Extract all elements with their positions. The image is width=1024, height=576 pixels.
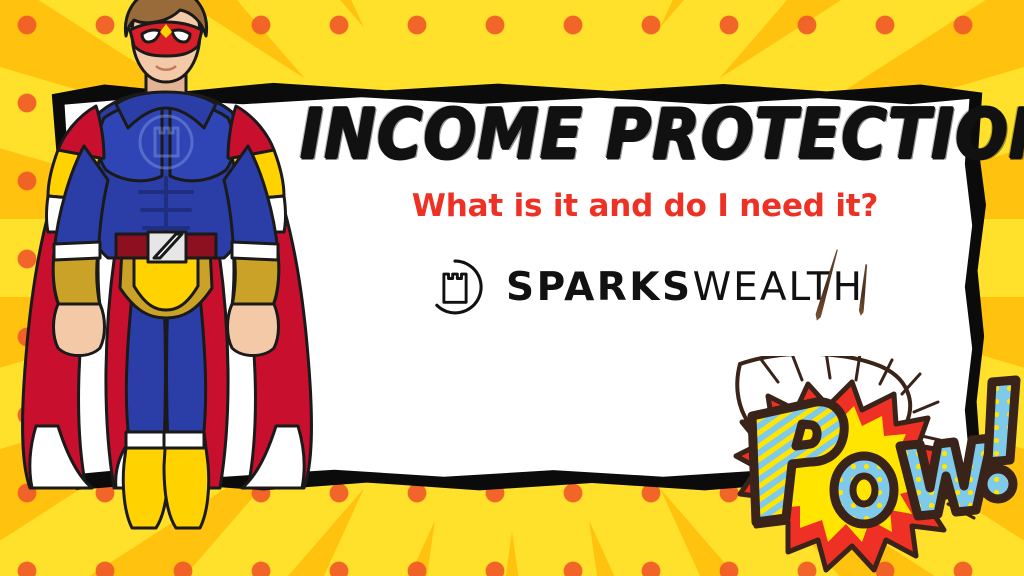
pow-burst bbox=[730, 356, 1024, 576]
superhero-illustration bbox=[0, 0, 336, 576]
slide-content: INCOME PROTECTION What is it and do I ne… bbox=[300, 100, 990, 316]
page-subtitle: What is it and do I need it? bbox=[300, 188, 990, 224]
letter-W bbox=[900, 438, 992, 516]
brand-name-bold: SPARKS bbox=[506, 268, 693, 307]
slide-canvas: INCOME PROTECTION What is it and do I ne… bbox=[0, 0, 1024, 576]
brand-logo: SPARKS WEALTH bbox=[300, 258, 990, 316]
brand-wordmark: SPARKS WEALTH bbox=[506, 268, 864, 307]
page-title: INCOME PROTECTION bbox=[300, 100, 990, 169]
castle-tower-icon bbox=[426, 258, 484, 316]
letter-exclamation-dot bbox=[983, 469, 1013, 499]
letter-exclamation bbox=[988, 380, 1016, 462]
brand-name-light: WEALTH bbox=[693, 268, 864, 307]
